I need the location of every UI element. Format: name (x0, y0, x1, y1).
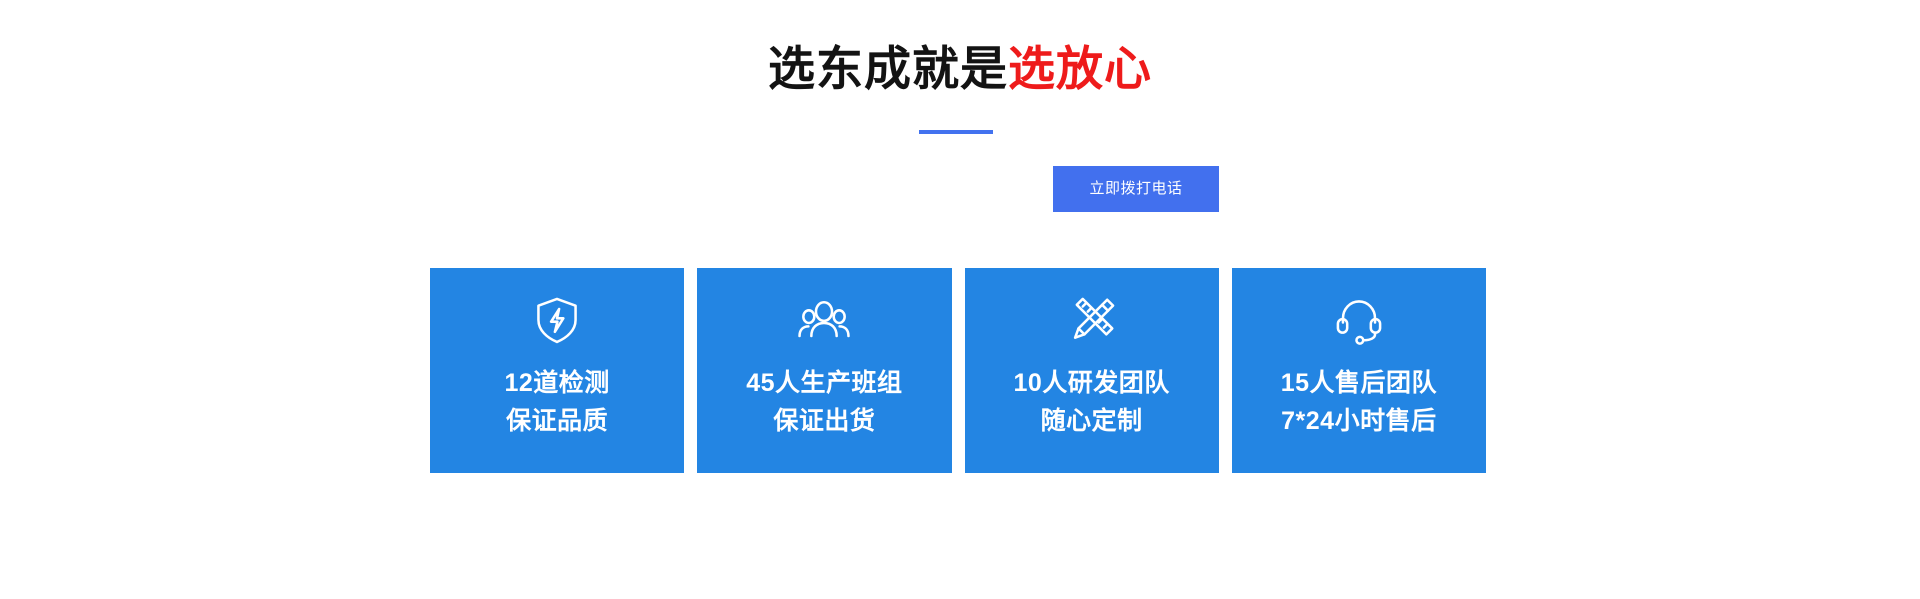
feature-card-line-1: 45人生产班组 (746, 364, 902, 402)
feature-card-line-2: 7*24小时售后 (1281, 402, 1437, 440)
feature-card-text: 12道检测 保证品质 (504, 364, 609, 440)
feature-card-rnd[interactable]: 10人研发团队 随心定制 (965, 268, 1219, 473)
feature-card-line-1: 10人研发团队 (1013, 364, 1169, 402)
call-now-button[interactable]: 立即拨打电话 (1053, 166, 1219, 212)
page-title: 选东成就是选放心 (0, 40, 1920, 98)
feature-card-support[interactable]: 15人售后团队 7*24小时售后 (1232, 268, 1486, 473)
headset-icon (1329, 290, 1389, 350)
feature-card-text: 15人售后团队 7*24小时售后 (1281, 364, 1437, 440)
title-divider (919, 130, 993, 134)
people-group-icon (794, 290, 854, 350)
feature-card-production[interactable]: 45人生产班组 保证出货 (697, 268, 951, 473)
feature-card-line-2: 随心定制 (1013, 402, 1169, 440)
shield-bolt-icon (527, 290, 587, 350)
feature-card-text: 45人生产班组 保证出货 (746, 364, 902, 440)
feature-card-line-2: 保证品质 (504, 402, 609, 440)
heading-text: 选东成就是选放心 (0, 40, 1920, 98)
pencil-ruler-icon (1062, 290, 1122, 350)
feature-card-list: 12道检测 保证品质 45人生产班组 保证出货 (430, 268, 1486, 473)
feature-card-line-1: 12道检测 (504, 364, 609, 402)
feature-card-line-1: 15人售后团队 (1281, 364, 1437, 402)
heading-text-primary: 选东成就是 (768, 42, 1008, 95)
feature-card-line-2: 保证出货 (746, 402, 902, 440)
heading-text-accent: 选放心 (1008, 42, 1152, 95)
feature-card-quality[interactable]: 12道检测 保证品质 (430, 268, 684, 473)
promo-section: 选东成就是选放心 立即拨打电话 12道检测 保证品质 (0, 0, 1920, 599)
feature-card-text: 10人研发团队 随心定制 (1013, 364, 1169, 440)
